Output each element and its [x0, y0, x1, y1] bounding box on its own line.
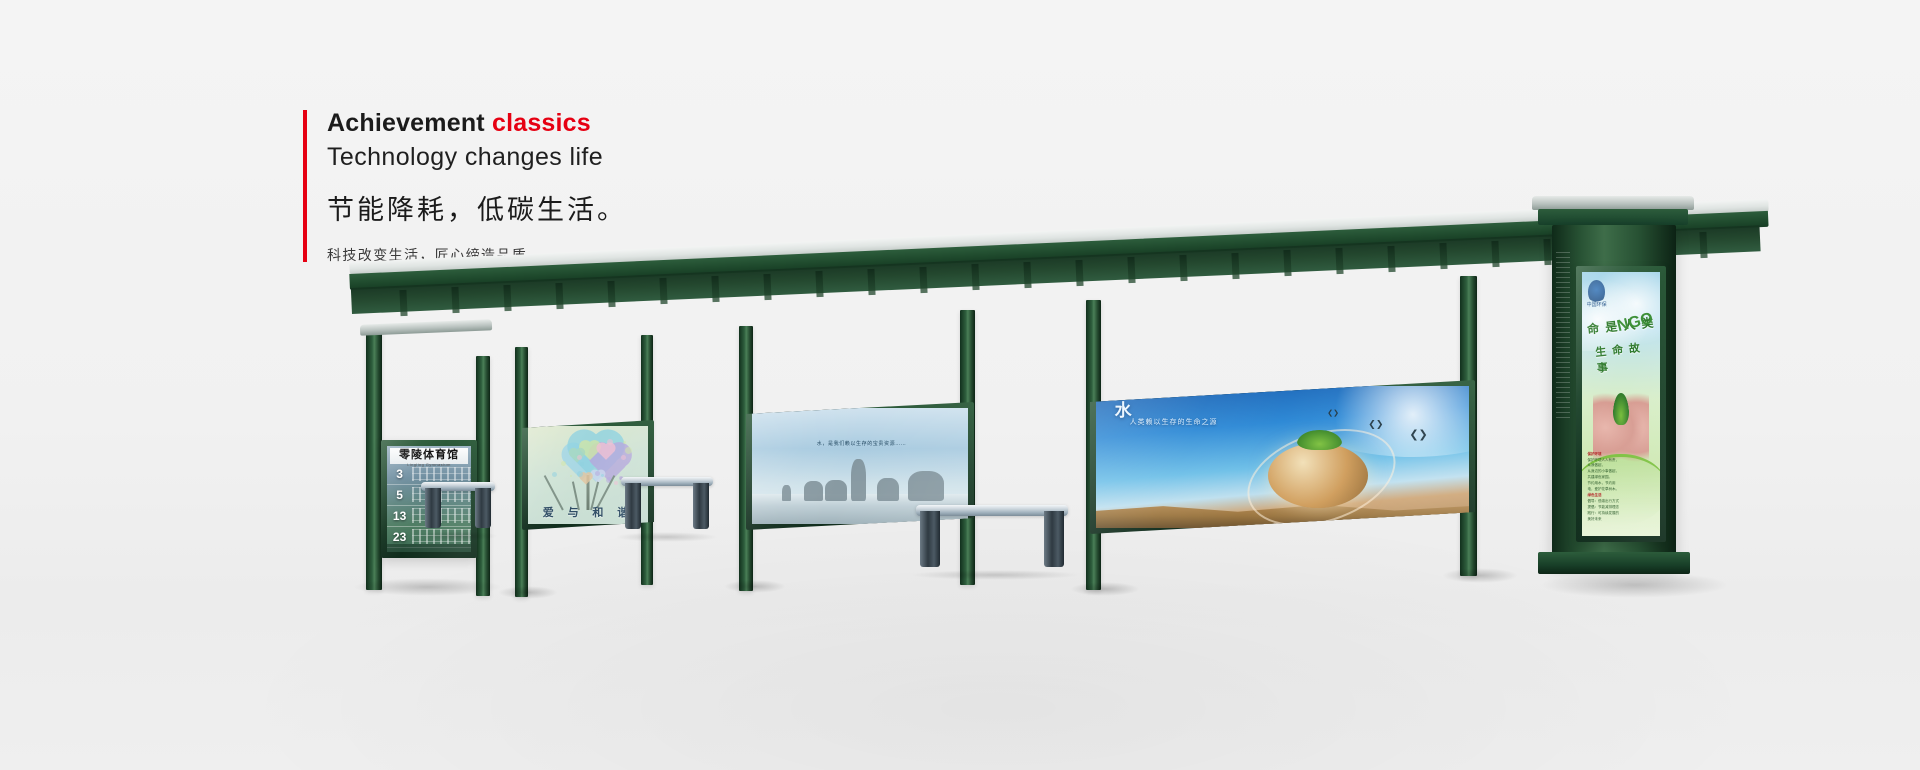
- elephant-silhouette: [908, 471, 945, 501]
- column-base: [1538, 552, 1690, 574]
- post-ground-shadow: [724, 580, 786, 593]
- panel-water-screen: 水 人类赖以生存的生命之源 ❮❯ ❮❯ ❮❯: [1096, 386, 1469, 528]
- bird-icon: ❮❯: [1409, 430, 1427, 441]
- eco-footer-line: 践行：可持续发展的美好未来: [1587, 511, 1621, 523]
- bubble-decoration: [607, 439, 613, 445]
- eco-poster: 中国环保 命 是 人 类 生 命 故 事 NGO 保护环境 保护环境人人有责，从…: [1582, 272, 1660, 536]
- tiger-silhouette: [825, 480, 847, 501]
- bus-shelter-render: 零陵体育馆 Lingling Gymnasium 351323 爱 与 和 谐: [0, 0, 1920, 770]
- column-roof-band: [1538, 209, 1688, 225]
- canopy-rib: [1387, 246, 1395, 272]
- post-ground-shadow: [352, 578, 502, 596]
- bird-icon: ❮❯: [1368, 420, 1383, 429]
- canopy-rib: [1231, 253, 1239, 279]
- canopy-rib: [919, 266, 927, 292]
- canopy-rib: [867, 269, 875, 295]
- bench-shadow: [910, 570, 1080, 580]
- canopy-rib: [399, 290, 407, 316]
- canopy-rib: [971, 264, 979, 290]
- canopy-rib: [607, 280, 615, 306]
- bench: [916, 505, 1068, 573]
- eco-footer-lines: 倡导：低碳出行方式提倡：节能减排理念践行：可持续发展的美好未来: [1587, 499, 1621, 523]
- schedule-route-number: 3: [387, 467, 412, 481]
- canopy-rib: [711, 276, 719, 302]
- schedule-route-number: 5: [387, 488, 412, 502]
- bubble-decoration: [552, 472, 557, 477]
- schedule-station-name-cn: 零陵体育馆: [399, 446, 459, 462]
- bench: [421, 482, 495, 534]
- canopy-rib: [659, 278, 667, 304]
- canopy-rib: [815, 271, 823, 297]
- bench-shadow: [415, 531, 498, 541]
- water-subtitle: 人类赖以生存的生命之源: [1130, 417, 1218, 427]
- canopy-rib: [555, 283, 563, 309]
- column-vent-grille: [1556, 252, 1570, 420]
- canopy-rib: [763, 273, 771, 299]
- deer-silhouette: [804, 481, 823, 501]
- canopy-rib: [1179, 255, 1187, 281]
- eco-sprout-icon: [1613, 393, 1629, 425]
- bench-leg: [1044, 511, 1064, 567]
- eco-body-text: 保护环境 保护环境人人有责，从我做起，从身边的小事做起，共建绿色家园。节约用水，…: [1587, 452, 1621, 523]
- column-ground-shadow: [1540, 572, 1730, 598]
- eco-logo-text: 中国环保: [1587, 301, 1607, 308]
- kiosk-post-right: [476, 356, 490, 596]
- schedule-route-number: 13: [387, 509, 412, 523]
- canopy-rib: [451, 287, 459, 313]
- bench-leg: [920, 511, 940, 567]
- water-earth-globe: [1268, 443, 1369, 508]
- giraffe-silhouette: [851, 459, 866, 501]
- panel-eco-screen: 中国环保 命 是 人 类 生 命 故 事 NGO 保护环境 保护环境人人有责，从…: [1582, 272, 1660, 536]
- bench: [621, 477, 713, 535]
- canopy-rib: [1699, 232, 1707, 258]
- canopy-rib: [1023, 262, 1031, 288]
- eco-body-line: 从身边的小事做起，共建绿色家园。: [1587, 469, 1621, 481]
- canopy-rib: [503, 285, 511, 311]
- water-poster: 水 人类赖以生存的生命之源 ❮❯ ❮❯ ❮❯: [1096, 386, 1469, 528]
- product-banner-stage: Achievement classics Technology changes …: [0, 0, 1920, 770]
- post-ground-shadow: [1070, 582, 1140, 596]
- bench-leg: [425, 488, 441, 528]
- bubble-decoration: [561, 461, 566, 466]
- bubble-decoration: [570, 475, 572, 477]
- bench-leg: [693, 483, 709, 529]
- animals-caption: 水，是我们赖以生存的宝贵资源……: [817, 440, 907, 447]
- bubble-decoration: [577, 455, 582, 460]
- bubble-decoration: [580, 462, 584, 466]
- column-roof-cap: [1532, 196, 1694, 210]
- canopy-rib: [1127, 257, 1135, 283]
- kiosk-cap: [360, 319, 492, 336]
- canopy-rib: [1335, 248, 1343, 274]
- eco-body-line: 保护环境人人有责，从我做起，: [1587, 458, 1621, 470]
- canopy-rib: [1439, 243, 1447, 269]
- bird-icon: ❮❯: [1327, 410, 1339, 417]
- schedule-route-number: 23: [387, 530, 412, 544]
- bench-leg: [475, 488, 491, 528]
- canopy-rib: [1543, 239, 1551, 265]
- eco-body-lines: 保护环境人人有责，从我做起，从身边的小事做起，共建绿色家园。节约用水，节约用电，…: [1587, 458, 1621, 494]
- schedule-station-title: 零陵体育馆 Lingling Gymnasium: [390, 448, 467, 464]
- bird-silhouette: [782, 485, 791, 501]
- eco-headline-line2: 生 命 故 事: [1595, 338, 1657, 376]
- post-ground-shadow: [498, 586, 558, 599]
- eco-body-title: 保护环境: [1587, 452, 1601, 456]
- bubble-decoration: [623, 441, 626, 444]
- water-sprout-leaf: [1297, 430, 1342, 450]
- eco-body-line: 节约用水，节约用电，爱护花草树木。: [1587, 481, 1621, 493]
- panel-water-ad[interactable]: 水 人类赖以生存的生命之源 ❮❯ ❮❯ ❮❯: [1090, 380, 1475, 534]
- camel-silhouette: [877, 478, 899, 501]
- post-ground-shadow: [1442, 568, 1518, 583]
- canopy-rib: [1491, 241, 1499, 267]
- panel-eco-column-ad[interactable]: 中国环保 命 是 人 类 生 命 故 事 NGO 保护环境 保护环境人人有责，从…: [1576, 266, 1666, 542]
- bubble-decoration: [614, 481, 618, 485]
- canopy-rib: [1075, 260, 1083, 286]
- bench-shadow: [615, 532, 718, 542]
- eco-footer-title: 绿色生活: [1587, 493, 1601, 497]
- canopy-rib: [1283, 250, 1291, 276]
- schedule-footer-bar: [387, 544, 471, 552]
- kiosk-post-left: [366, 330, 382, 590]
- bench-leg: [625, 483, 641, 529]
- schedule-stop-list: [412, 467, 471, 482]
